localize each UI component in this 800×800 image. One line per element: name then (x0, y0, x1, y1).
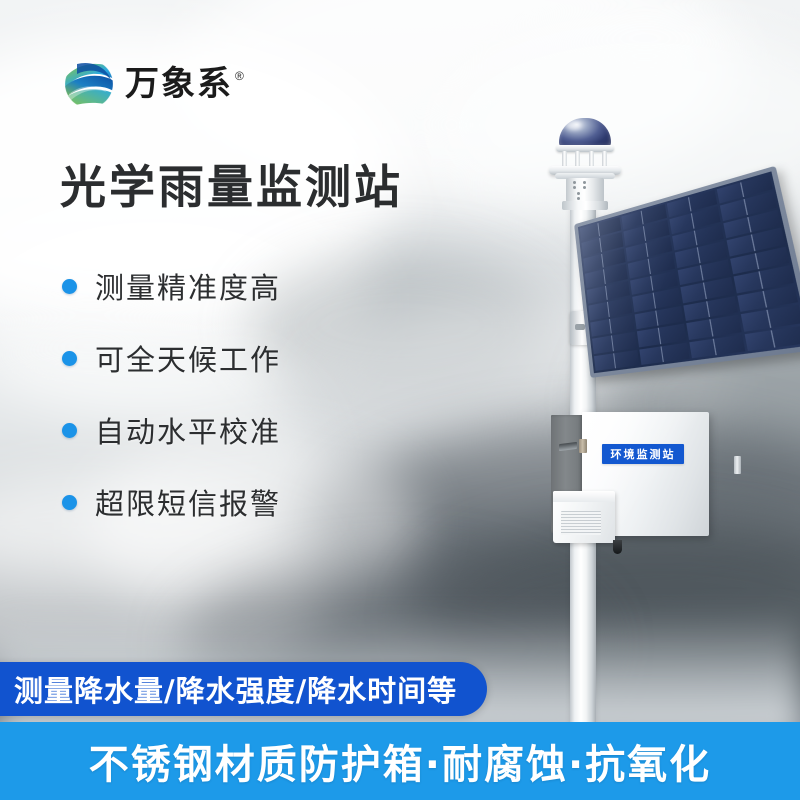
globe-swoosh-logo-icon (63, 58, 115, 110)
brand-logo: 万象系 ® (63, 58, 244, 110)
page-title: 光学雨量监测站 (60, 163, 403, 211)
feature-label: 自动水平校准 (95, 409, 281, 451)
measurement-banner-text: 测量降水量/降水强度/降水时间等 (14, 668, 457, 710)
feature-item: 测量精准度高 (62, 264, 281, 308)
brand-name: 万象系 (125, 67, 233, 101)
blue-dot-icon (62, 279, 77, 294)
footer-bar: 不锈钢材质防护箱·耐腐蚀·抗氧化 (0, 722, 800, 800)
feature-item: 超限短信报警 (62, 480, 281, 524)
registered-trademark-icon: ® (235, 69, 244, 83)
feature-label: 测量精准度高 (95, 265, 281, 307)
blue-dot-icon (62, 495, 77, 510)
product-poster: 环境监测站 (0, 0, 800, 800)
feature-item: 自动水平校准 (62, 408, 281, 452)
blue-dot-icon (62, 423, 77, 438)
feature-item: 可全天候工作 (62, 336, 281, 380)
footer-text: 不锈钢材质防护箱·耐腐蚀·抗氧化 (89, 732, 711, 790)
measurement-banner: 测量降水量/降水强度/降水时间等 (0, 662, 487, 716)
brand-name-group: 万象系 ® (125, 67, 244, 101)
feature-label: 可全天候工作 (95, 337, 281, 379)
feature-label: 超限短信报警 (95, 481, 281, 523)
feature-list: 测量精准度高 可全天候工作 自动水平校准 超限短信报警 (62, 264, 281, 552)
blue-dot-icon (62, 351, 77, 366)
